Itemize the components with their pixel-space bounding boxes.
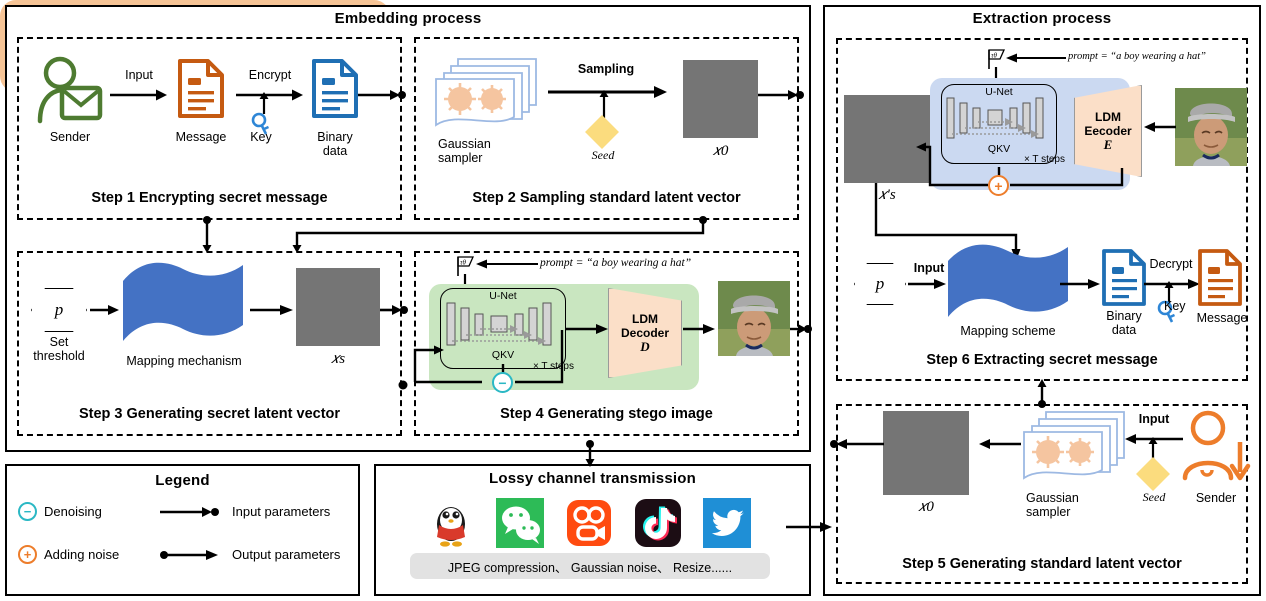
xs-latent-box [296,268,380,346]
binary-data-label: Binary data [295,131,375,158]
step4-title: Step 4 Generating stego image [414,406,799,422]
threshold-p-label: p [55,300,64,320]
step6-p-label: p [876,274,885,294]
step2-title: Step 2 Sampling standard latent vector [414,190,799,206]
step4-decoder-to-image-arrow [683,322,717,336]
lossy-channel-title: Lossy channel transmission [374,470,811,487]
tiktok-icon [634,498,682,548]
denoise-minus-op: − [492,372,513,393]
step5-sender-icon [1182,410,1248,486]
set-threshold-label: Set threshold [27,336,91,363]
step1-title: Step 1 Encrypting secret message [17,190,402,206]
legend-denoise-icon: − [18,502,37,521]
seed-label: Seed [578,148,628,163]
wechat-icon [496,498,544,548]
step5-title: Step 5 Generating standard latent vector [836,556,1248,572]
step2-output-connector [758,88,804,102]
step6-message-label: Message [1190,312,1254,326]
step3-p-arrow [90,303,120,317]
step6-title: Step 6 Extracting secret message [836,352,1248,368]
kuaishou-icon [565,498,613,548]
ldm-decoder-line1: LDM [632,312,658,326]
step2-to-step3-connector [290,216,710,254]
step1-output-connector [358,88,406,102]
binary-doc-icon [310,58,360,120]
step6-message-doc-icon [1196,248,1244,308]
step4-prompt-text: prompt = “a boy wearing a hat” [540,257,770,269]
received-image-photo [1175,88,1247,166]
svg-text:τθ: τθ [991,52,998,60]
denoise-minus-glyph: − [498,376,506,390]
legend-output-params-label: Output parameters [232,547,340,562]
key-label: Key [238,131,284,145]
ldm-decoder-shape: LDM Decoder D [608,288,682,378]
step5-output-connector [828,437,886,451]
step1-encrypt-arrow [236,88,304,102]
twitter-icon [703,498,751,548]
step5-sender-label: Sender [1184,492,1248,506]
step1-input-label: Input [108,68,170,82]
photo-to-encoder-arrow [1142,120,1178,134]
message-doc-icon [176,58,226,120]
distortions-pill: JPEG compression、 Gaussian noise、 Resize… [410,553,770,579]
stego-to-lossy-connector [583,440,597,468]
step4-prompt-arrow [474,258,538,270]
legend-title: Legend [5,472,360,489]
step1-key-arrow [258,92,270,114]
step5-x0-latent-box [883,411,969,495]
legend-input-arrow-icon [160,505,222,519]
extraction-process-title: Extraction process [823,10,1261,27]
svg-text:τθ: τθ [460,259,467,267]
step5-x0-label: 𝑥0 [883,498,969,516]
legend-input-params-label: Input parameters [232,504,330,519]
step6-binary-label: Binary data [1084,310,1164,337]
step5-sampler-arrow [977,437,1021,451]
step3-output-connector [380,303,408,317]
step4-unet-label: U-Net [440,290,566,302]
ldm-decoder-line2: Decoder [621,326,669,340]
step2-seed-arrow [598,90,610,118]
mapping-scheme-icon [944,243,1072,325]
step6-map-arrow [1060,277,1102,291]
legend-adding-noise-label: Adding noise [44,547,119,562]
sender-icon [32,55,108,127]
legend-denoising-label: Denoising [44,504,102,519]
step1-input-arrow [110,88,168,102]
step3-title: Step 3 Generating secret latent vector [17,406,402,422]
step1-to-step3-connector [200,216,214,254]
step3-map-arrow [250,303,294,317]
message-label: Message [163,131,239,145]
step4-output-connector [790,322,812,336]
mapping-scheme-label: Mapping scheme [938,325,1078,339]
diagram-root: Embedding process Step 1 Encrypting secr… [0,0,1266,601]
qq-icon [427,498,475,548]
step6-decrypt-label: Decrypt [1140,257,1202,271]
step5-sampler-label: Gaussian sampler [1016,492,1116,519]
legend-addnoise-icon: + [18,545,37,564]
embedding-process-title: Embedding process [5,10,811,27]
step5-gaussian-sampler-icon [1020,408,1128,490]
ldm-encoder-line1: LDM [1095,110,1121,124]
step3-feedback-connector [396,378,410,392]
x0-label: 𝑥0 [683,142,758,160]
gaussian-sampler-label: Gaussian sampler [424,138,534,165]
stego-image-photo [718,281,790,356]
extraction-unet-label: U-Net [941,86,1057,98]
step5-seed-label: Seed [1129,490,1179,505]
step6-p-arrow [908,277,948,291]
step1-encrypt-label: Encrypt [235,68,305,82]
step5-input-label: Input [1124,412,1184,426]
mapping-mechanism-icon [119,259,247,349]
extraction-prompt-text: prompt = “a boy wearing a hat” [1068,51,1258,62]
gaussian-sampler-icon [432,55,540,137]
lossy-to-step5-connector [786,520,836,534]
x0-latent-box [683,60,758,138]
legend-plus-glyph: + [24,548,32,561]
legend-minus-glyph: − [24,505,32,518]
ldm-decoder-line3: D [640,340,649,354]
xs-label: 𝑥s [296,350,380,368]
distortions-label: JPEG compression、 Gaussian noise、 Resize… [448,557,732,576]
sampling-label: Sampling [548,62,664,76]
extraction-prompt-arrow [1004,52,1066,64]
legend-output-arrow-icon [160,548,222,562]
sender-label: Sender [30,131,110,145]
mapping-mechanism-label: Mapping mechanism [110,355,258,369]
